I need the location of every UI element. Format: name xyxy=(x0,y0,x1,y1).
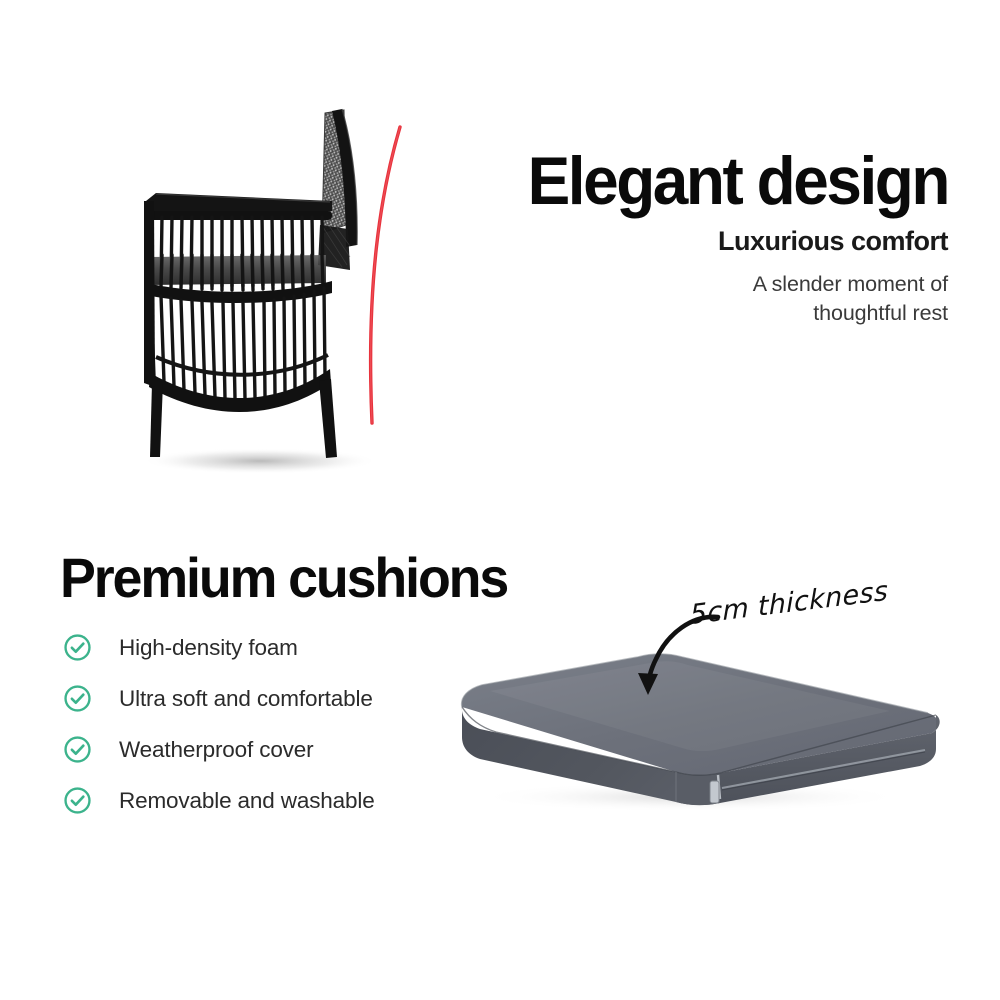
feature-label: Removable and washable xyxy=(119,788,375,814)
tagline-line-1: A slender moment of xyxy=(753,272,948,296)
subheading-luxurious-comfort: Luxurious comfort xyxy=(470,227,948,257)
chair-armrest xyxy=(146,193,332,211)
chair-upper-rail xyxy=(146,211,332,220)
feature-label: High-density foam xyxy=(119,635,298,661)
infographic-canvas: Elegant design Luxurious comfort A slend… xyxy=(0,0,1000,1000)
zipper-pull xyxy=(710,781,719,803)
tagline-line-2: thoughtful rest xyxy=(813,301,948,325)
red-accent-line xyxy=(371,127,400,423)
check-circle-icon xyxy=(63,684,92,713)
list-item: High-density foam xyxy=(60,622,460,673)
chair-side-post xyxy=(144,201,155,387)
feature-label: Ultra soft and comfortable xyxy=(119,686,373,712)
page-title-elegant-design: Elegant design xyxy=(499,148,948,215)
chair-lower-slats xyxy=(151,288,325,398)
feature-label: Weatherproof cover xyxy=(119,737,313,763)
list-item: Ultra soft and comfortable xyxy=(60,673,460,724)
rattan-armchair-image xyxy=(110,105,440,495)
check-circle-icon xyxy=(63,735,92,764)
chair-seat-cushion xyxy=(150,255,326,285)
tagline: A slender moment of thoughtful rest xyxy=(470,270,948,327)
check-circle-icon xyxy=(63,786,92,815)
feature-list: High-density foam Ultra soft and comfort… xyxy=(60,622,460,826)
check-circle-icon xyxy=(63,633,92,662)
list-item: Removable and washable xyxy=(60,775,460,826)
top-text-block: Elegant design Luxurious comfort A slend… xyxy=(470,148,948,327)
list-item: Weatherproof cover xyxy=(60,724,460,775)
chair-floor-shadow xyxy=(142,448,378,474)
